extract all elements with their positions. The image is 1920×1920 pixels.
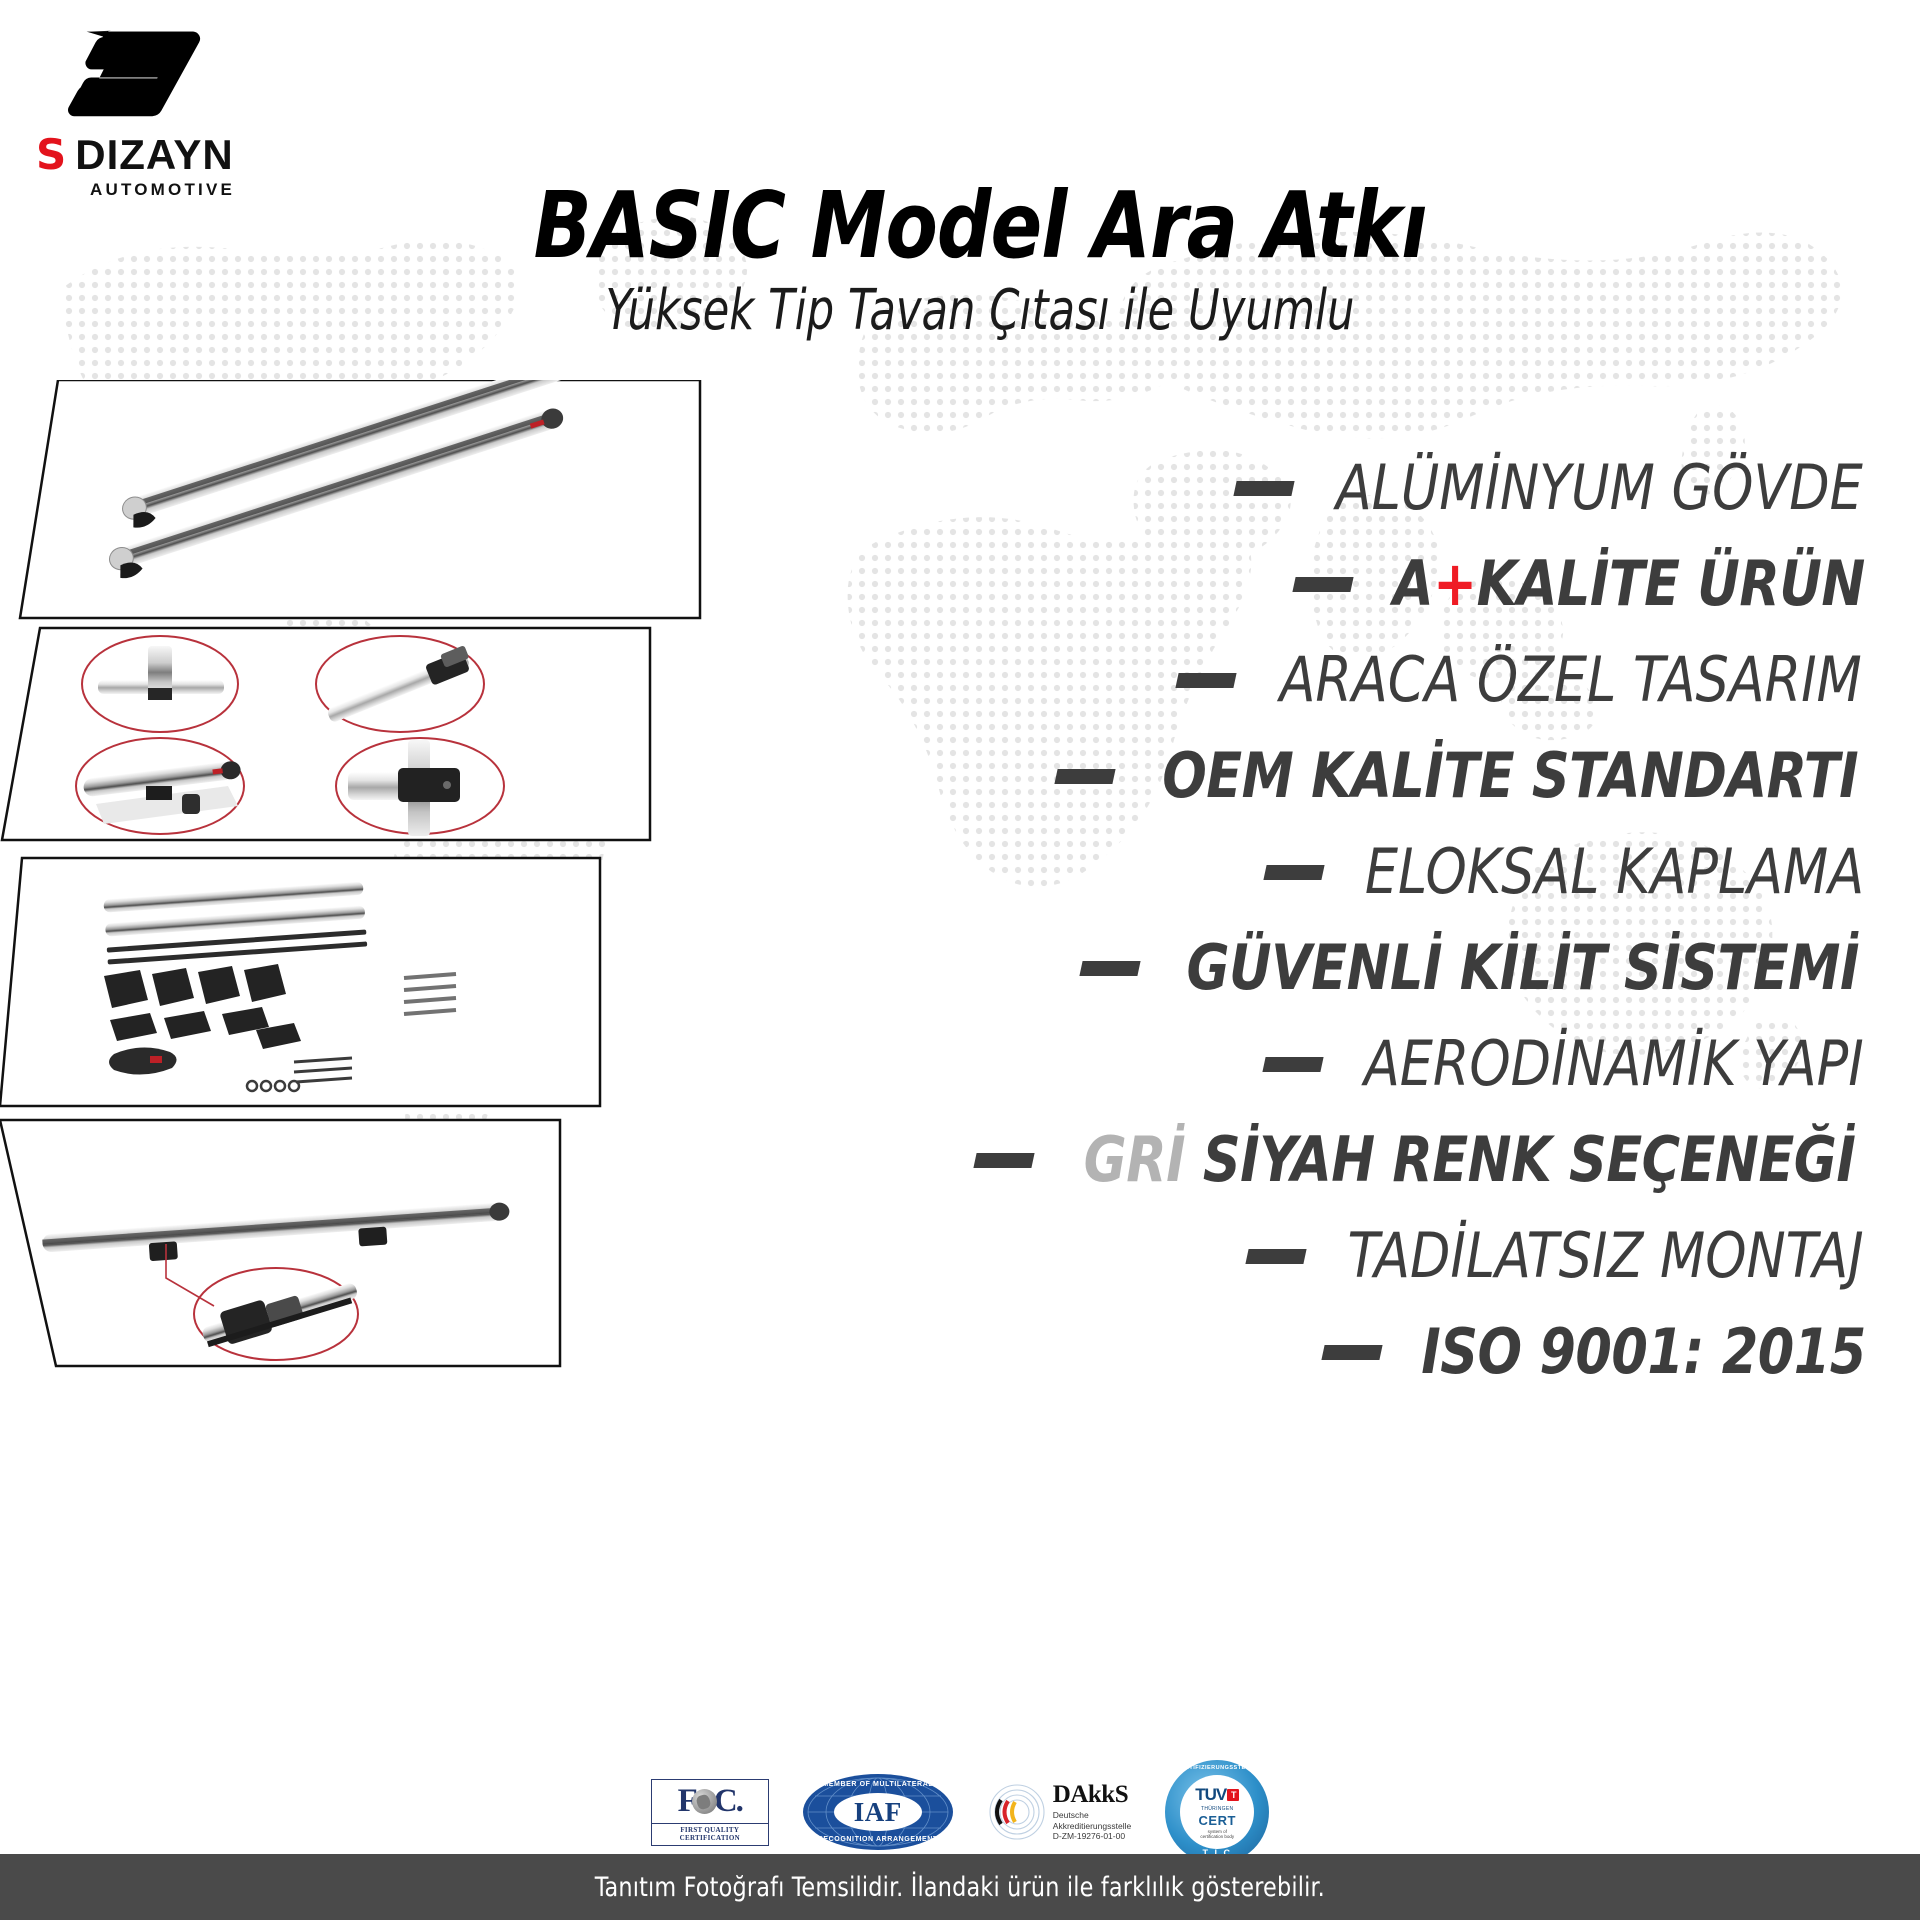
tuv-letters: TUV	[1195, 1785, 1226, 1805]
feature-text-segment: ELOKSAL KAPLAMA	[1365, 835, 1864, 908]
feature-label: AERODİNAMİK YAPI	[1364, 1033, 1864, 1095]
feature-text-segment: ARACA ÖZEL TASARIM	[1279, 643, 1861, 716]
panel-installed-rail	[0, 1120, 560, 1366]
feature-label: TADİLATSIZ MONTAJ	[1347, 1225, 1863, 1287]
globe-icon	[692, 1789, 717, 1814]
feature-text-segment: GRİ	[1084, 1123, 1203, 1196]
feature-label: ALÜMİNYUM GÖVDE	[1336, 457, 1863, 519]
bullet-dash-icon	[1054, 769, 1115, 784]
tuv-cert-word: CERT	[1199, 1813, 1236, 1828]
feature-text-segment: A	[1393, 547, 1433, 620]
feature-label: A+KALİTE ÜRÜN	[1393, 553, 1865, 615]
tuv-top-text: ZERTIFIZIERUNGSSTELLE	[1165, 1765, 1269, 1771]
bullet-dash-icon	[973, 1153, 1034, 1168]
bullet-dash-icon	[1263, 1057, 1324, 1072]
panel-mounting-details	[2, 628, 650, 840]
footer-banner: Tanıtım Fotoğrafı Temsilidir. İlandaki ü…	[0, 1854, 1920, 1920]
panel-kit-components	[0, 858, 600, 1106]
feature-text-segment: GÜVENLİ KİLİT SİSTEMİ	[1186, 931, 1859, 1004]
feature-label: OEM KALİTE STANDARTI	[1162, 745, 1858, 807]
tuv-sub-text: THÜRINGEN	[1201, 1806, 1233, 1812]
iaf-letters: IAF	[834, 1793, 922, 1831]
headline-block: BASIC Model Ara Atkı Yüksek Tip Tavan Çı…	[260, 180, 1700, 341]
feature-label: GÜVENLİ KİLİT SİSTEMİ	[1186, 937, 1859, 999]
feature-text-segment: SİYAH RENK SEÇENEĞİ	[1203, 1123, 1856, 1196]
dakks-badge: DAkkS Deutsche Akkreditierungsstelle D-Z…	[987, 1782, 1131, 1842]
feature-text-segment: OEM KALİTE STANDARTI	[1162, 739, 1858, 812]
brand-logo: S DIZAYN AUTOMOTIVE	[30, 18, 310, 200]
feature-row: TADİLATSIZ MONTAJ	[560, 1208, 1920, 1304]
feature-row: ISO 9001: 2015	[560, 1304, 1920, 1400]
dakks-caption: Deutsche Akkreditierungsstelle D-ZM-1927…	[1053, 1810, 1131, 1842]
dakks-letters: DAkkS	[1053, 1782, 1131, 1807]
feature-row: A+KALİTE ÜRÜN	[560, 536, 1920, 632]
feature-row: ELOKSAL KAPLAMA	[560, 824, 1920, 920]
feature-row: GÜVENLİ KİLİT SİSTEMİ	[560, 920, 1920, 1016]
bullet-dash-icon	[1263, 865, 1324, 880]
feature-label: GRİ SİYAH RENK SEÇENEĞİ	[1084, 1129, 1856, 1191]
dakks-rings-icon	[987, 1782, 1047, 1842]
product-feature-poster: S DIZAYN AUTOMOTIVE BASIC Model Ara Atkı…	[0, 0, 1920, 1920]
bullet-dash-icon	[1079, 961, 1140, 976]
feature-label: ISO 9001: 2015	[1421, 1321, 1866, 1383]
feature-list: ALÜMİNYUM GÖVDEA+KALİTE ÜRÜNARACA ÖZEL T…	[560, 440, 1920, 1400]
tuv-red-square-icon: T	[1227, 1789, 1239, 1801]
certification-badges: F C. FIRST QUALITY CERTIFICATION	[0, 1760, 1920, 1864]
logo-s-letter: S	[36, 134, 65, 176]
fqc-caption: FIRST QUALITY CERTIFICATION	[651, 1823, 769, 1846]
footer-disclaimer: Tanıtım Fotoğrafı Temsilidir. İlandaki ü…	[595, 1872, 1325, 1903]
feature-text-segment: KALİTE ÜRÜN	[1477, 547, 1865, 620]
feature-text-segment: ISO 9001: 2015	[1421, 1315, 1866, 1388]
feature-text-segment: +	[1433, 547, 1476, 620]
feature-text-segment: TADİLATSIZ MONTAJ	[1347, 1219, 1863, 1292]
bullet-dash-icon	[1245, 1249, 1306, 1264]
feature-label: ARACA ÖZEL TASARIM	[1279, 649, 1861, 711]
feature-row: AERODİNAMİK YAPI	[560, 1016, 1920, 1112]
iaf-bottom-text: RECOGNITION ARRANGEMENT	[803, 1836, 953, 1843]
fqc-letter-c: C.	[714, 1783, 742, 1820]
bullet-dash-icon	[1292, 577, 1353, 592]
feature-row: ALÜMİNYUM GÖVDE	[560, 440, 1920, 536]
iaf-badge: MEMBER OF MULTILATERAL IAF RECOGNITION A…	[803, 1774, 953, 1850]
feature-text-segment: AERODİNAMİK YAPI	[1364, 1027, 1864, 1100]
s-monogram-icon	[56, 18, 236, 128]
feature-text-segment: ALÜMİNYUM GÖVDE	[1336, 451, 1863, 524]
iaf-top-text: MEMBER OF MULTILATERAL	[803, 1781, 953, 1788]
tuv-badge: ZERTIFIZIERUNGSSTELLE TUV T THÜRINGEN CE…	[1165, 1760, 1269, 1864]
bullet-dash-icon	[1321, 1345, 1382, 1360]
page-subtitle: Yüksek Tip Tavan Çıtası ile Uyumlu	[361, 282, 1599, 341]
feature-row: GRİ SİYAH RENK SEÇENEĞİ	[560, 1112, 1920, 1208]
feature-row: ARACA ÖZEL TASARIM	[560, 632, 1920, 728]
page-title: BASIC Model Ara Atkı	[318, 180, 1643, 272]
logo-brand-name: DIZAYN	[75, 134, 233, 176]
feature-row: OEM KALİTE STANDARTI	[560, 728, 1920, 824]
bullet-dash-icon	[1175, 673, 1236, 688]
bullet-dash-icon	[1234, 481, 1295, 496]
tuv-small-print: system ofcertification body	[1200, 1829, 1234, 1840]
fqc-badge: F C. FIRST QUALITY CERTIFICATION	[651, 1779, 769, 1846]
feature-label: ELOKSAL KAPLAMA	[1365, 841, 1864, 903]
